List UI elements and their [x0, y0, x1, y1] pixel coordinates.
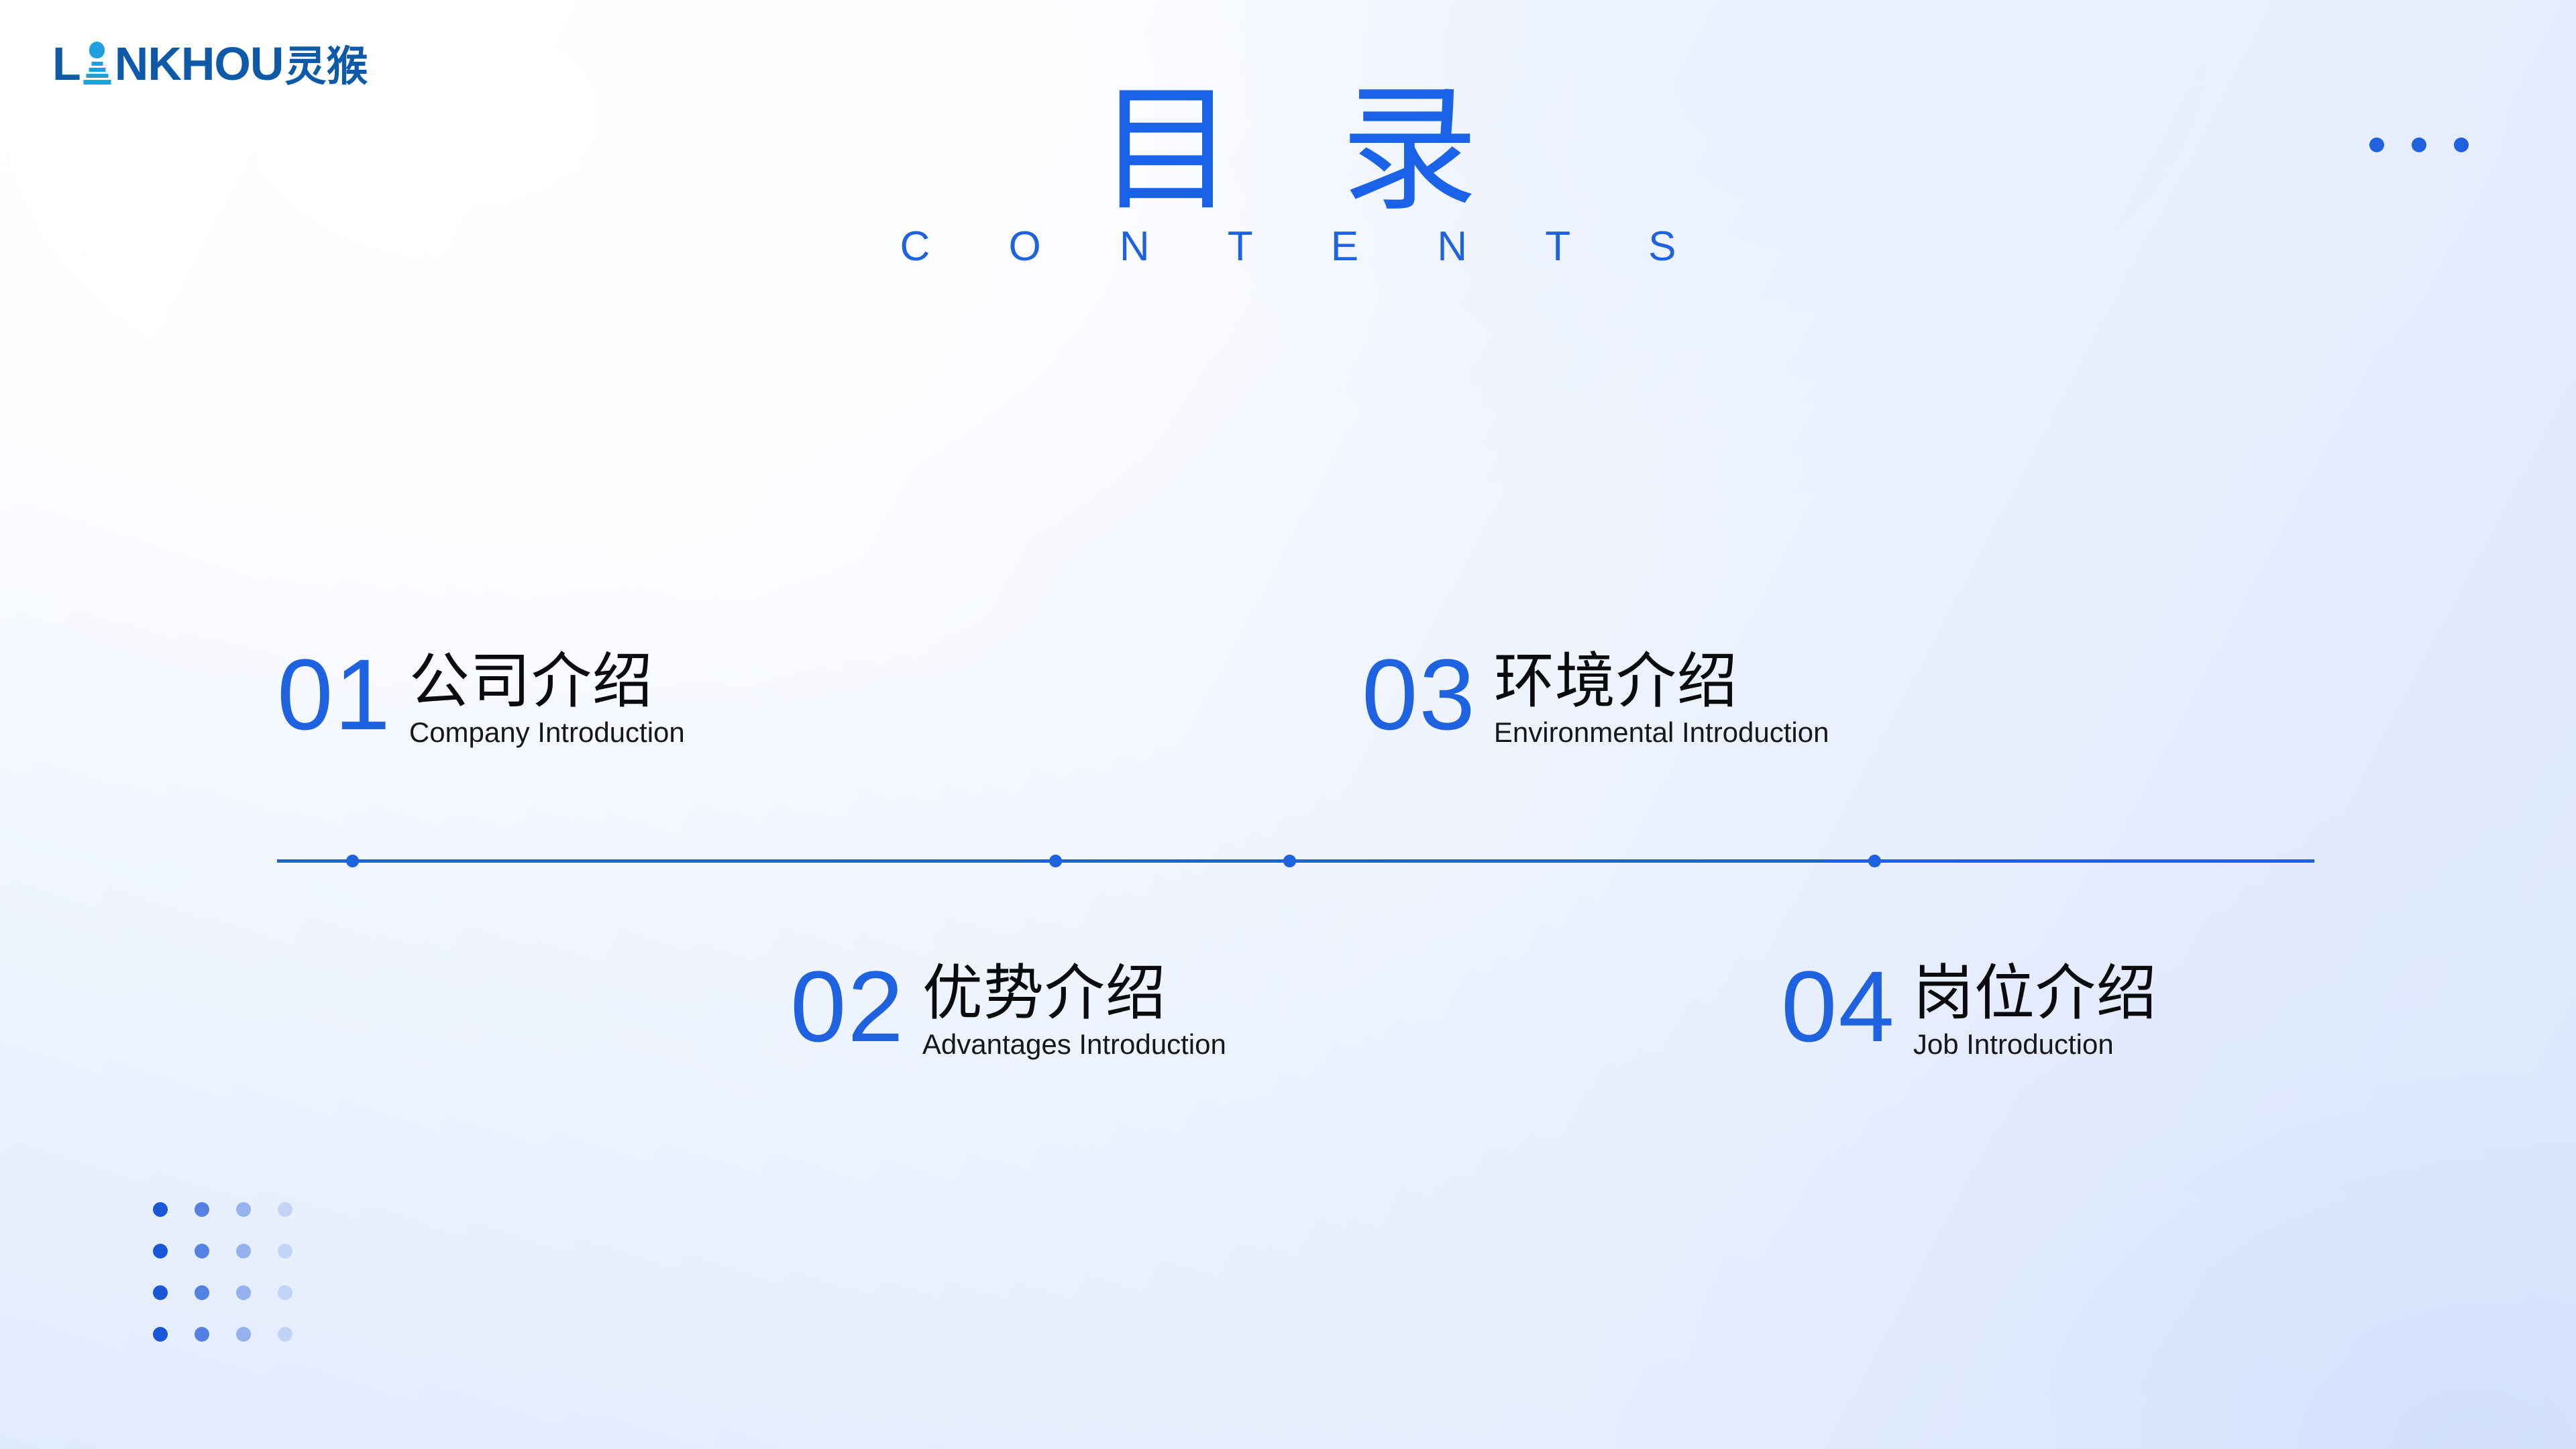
- decor-grid-dot: [195, 1202, 209, 1217]
- agenda-title-en-02: Advantages Introduction: [922, 1028, 1226, 1061]
- agenda-title-cn-04: 岗位介绍: [1913, 961, 2157, 1026]
- decor-grid-dot: [236, 1285, 251, 1300]
- timeline-axis: [277, 859, 2314, 863]
- timeline-marker-04[interactable]: [1868, 855, 1881, 867]
- agenda-number-01: 01: [277, 646, 392, 743]
- decor-grid-dot: [195, 1244, 209, 1258]
- agenda-number-03: 03: [1362, 646, 1477, 743]
- decor-dot: [2412, 138, 2426, 152]
- decorative-dot-grid: [153, 1202, 319, 1368]
- agenda-item-04[interactable]: 04 岗位介绍 Job Introduction: [1781, 958, 2157, 1061]
- timeline-marker-03[interactable]: [1283, 855, 1296, 867]
- decor-grid-dot: [153, 1244, 168, 1258]
- agenda-title-en-03: Environmental Introduction: [1494, 716, 1829, 749]
- decor-grid-dot: [195, 1285, 209, 1300]
- page-title: 目 录: [0, 79, 2576, 222]
- tower-i-dot: [89, 42, 105, 58]
- agenda-text-03: 环境介绍 Environmental Introduction: [1494, 646, 1829, 749]
- agenda-title-cn-01: 公司介绍: [409, 649, 685, 714]
- decor-grid-dot: [153, 1327, 168, 1342]
- timeline-marker-01[interactable]: [346, 855, 359, 867]
- agenda-text-02: 优势介绍 Advantages Introduction: [922, 958, 1226, 1061]
- timeline-marker-02[interactable]: [1049, 855, 1062, 867]
- decor-grid-dot: [236, 1244, 251, 1258]
- decor-grid-dot: [278, 1285, 292, 1300]
- decor-grid-dot: [278, 1327, 292, 1342]
- decor-grid-dot: [153, 1285, 168, 1300]
- decor-grid-dot: [153, 1202, 168, 1217]
- decor-grid-dot: [278, 1244, 292, 1258]
- agenda-number-02: 02: [790, 958, 905, 1055]
- agenda-text-04: 岗位介绍 Job Introduction: [1913, 958, 2157, 1061]
- decor-grid-dot: [236, 1327, 251, 1342]
- page-title-block: 目 录 C O N T E N T S: [0, 79, 2576, 268]
- slide-canvas: L NKHOU 灵猴 目 录 C O N T E N T S 01 公司介绍 C…: [0, 0, 2576, 1449]
- page-subtitle: C O N T E N T S: [0, 226, 2576, 268]
- agenda-item-03[interactable]: 03 环境介绍 Environmental Introduction: [1362, 646, 1829, 749]
- agenda-title-cn-02: 优势介绍: [922, 961, 1226, 1026]
- agenda-number-04: 04: [1781, 958, 1896, 1055]
- agenda-title-cn-03: 环境介绍: [1494, 649, 1829, 714]
- agenda-text-01: 公司介绍 Company Introduction: [409, 646, 685, 749]
- decor-grid-dot: [278, 1202, 292, 1217]
- agenda-title-en-01: Company Introduction: [409, 716, 685, 749]
- tower-i-bar-1: [91, 62, 103, 66]
- decor-grid-dot: [236, 1202, 251, 1217]
- decor-dot: [2454, 138, 2469, 152]
- agenda-title-en-04: Job Introduction: [1913, 1028, 2157, 1061]
- agenda-item-02[interactable]: 02 优势介绍 Advantages Introduction: [790, 958, 1226, 1061]
- decor-grid-dot: [195, 1327, 209, 1342]
- agenda-item-01[interactable]: 01 公司介绍 Company Introduction: [277, 646, 685, 749]
- tower-i-bar-2: [89, 68, 105, 72]
- decorative-dots-top-right: [2369, 138, 2469, 152]
- tower-i-bar-3: [86, 74, 108, 78]
- decor-dot: [2369, 138, 2384, 152]
